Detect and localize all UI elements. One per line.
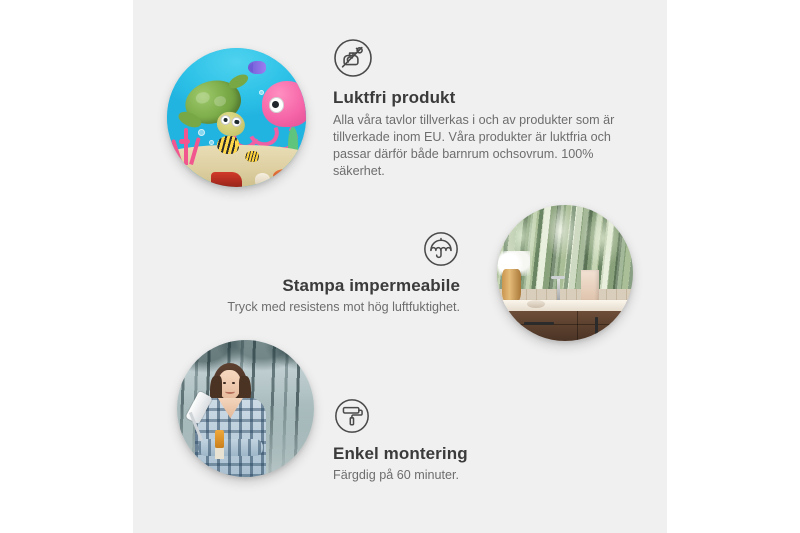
paint-brush — [215, 430, 223, 448]
feature-title: Luktfri produkt — [333, 87, 623, 108]
eye — [232, 382, 235, 384]
cabinet-seam — [502, 324, 633, 325]
shirt-neckline — [218, 398, 244, 419]
feature-title: Stampa impermeabile — [178, 275, 460, 296]
sunken-object — [211, 172, 242, 187]
drawer-pull — [524, 322, 554, 325]
coral-branch — [179, 139, 190, 144]
crossed-arms — [198, 439, 264, 457]
feature-description: Färgdig på 60 minuter. — [333, 467, 623, 484]
seashell — [255, 173, 270, 186]
bathroom-artwork — [497, 205, 633, 341]
striped-fish — [245, 151, 259, 162]
feature-waterproof-print: Stampa impermeabile Tryck med resistens … — [178, 230, 460, 316]
image-bathroom-wallpaper — [497, 205, 633, 341]
woman-artwork — [177, 340, 314, 477]
feature-easy-assembly: Enkel montering Färgdig på 60 minuter. — [333, 397, 623, 484]
coral-branch — [184, 128, 188, 165]
feature-title: Enkel montering — [333, 443, 623, 464]
underwater-artwork — [167, 48, 306, 187]
drawer-pull — [595, 317, 598, 336]
vanity-cabinet — [502, 311, 633, 341]
turtle-eye — [220, 114, 232, 126]
purple-fish — [248, 61, 266, 75]
cabinet-seam — [577, 311, 578, 341]
paint-roller-icon — [333, 397, 623, 435]
octopus-eye — [269, 97, 284, 113]
product-feature-infographic: Luktfri produkt Alla våra tavlor tillver… — [0, 0, 800, 533]
vase — [502, 269, 521, 304]
coral-branch — [190, 137, 201, 164]
feature-description: Alla våra tavlor tillverkas i och av pro… — [333, 112, 618, 180]
coral — [173, 123, 215, 165]
umbrella-icon — [178, 230, 460, 268]
image-woman-with-roller — [177, 340, 314, 477]
crab — [273, 169, 298, 183]
striped-fish — [217, 136, 239, 154]
smile — [225, 389, 235, 394]
faucet — [557, 276, 560, 302]
feature-description: Tryck med resistens mot hög luftfuktighe… — [178, 299, 460, 316]
drawer-pull — [619, 317, 622, 336]
image-underwater-scene — [167, 48, 306, 187]
eye — [223, 382, 226, 384]
feature-odorless: Luktfri produkt Alla våra tavlor tillver… — [333, 38, 623, 180]
no-odor-spray-bottle-icon — [333, 38, 623, 78]
turtle-eye — [231, 116, 243, 128]
